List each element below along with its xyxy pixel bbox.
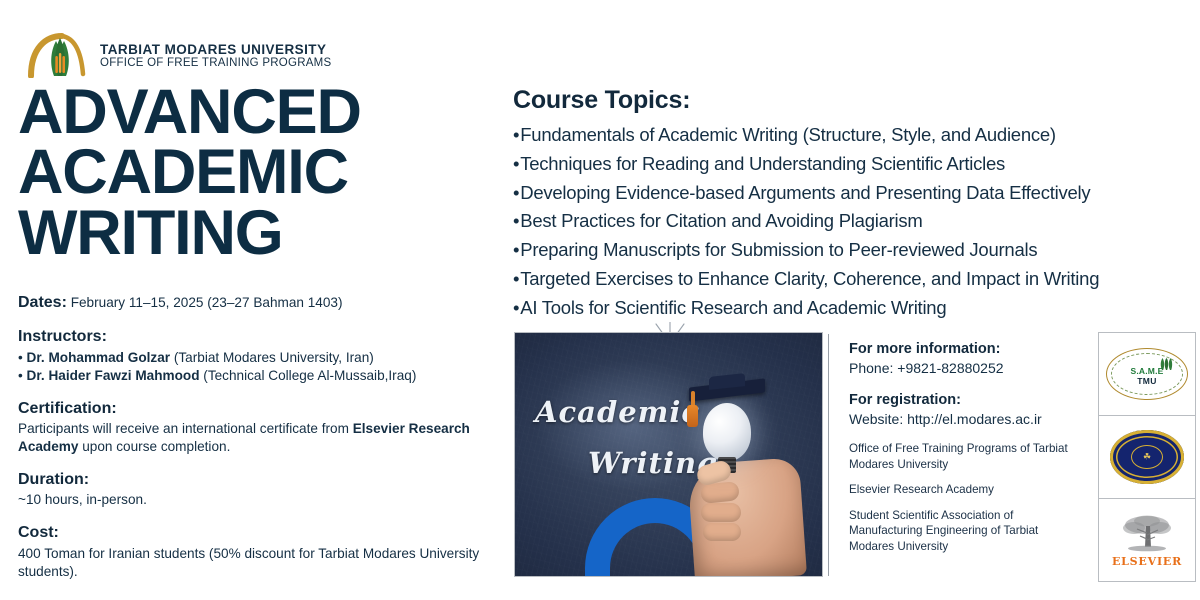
contact-info: For more information: Phone: +9821-82880… <box>849 340 1081 554</box>
instructor-affiliation: (Technical College Al-Mussaib,Iraq) <box>203 368 416 383</box>
tmu-tulip-logo-icon <box>28 32 90 78</box>
elsevier-wordmark: ELSEVIER <box>1112 555 1182 568</box>
cap-tassel <box>687 405 698 427</box>
organizer-elsevier: Elsevier Research Academy <box>849 482 1081 497</box>
title-line-3: WRITING <box>18 203 518 263</box>
brand-university-name: TARBIAT MODARES UNIVERSITY <box>100 42 331 57</box>
topic-text: AI Tools for Scientific Research and Aca… <box>520 297 946 318</box>
certification-text: Participants will receive an internation… <box>18 420 518 456</box>
topic-text: Fundamentals of Academic Writing (Struct… <box>520 124 1056 145</box>
page-title: ADVANCED ACADEMIC WRITING <box>18 82 518 263</box>
topic-text: Targeted Exercises to Enhance Clarity, C… <box>520 268 1099 289</box>
title-line-2: ACADEMIC <box>18 142 518 202</box>
topic-item: •Developing Evidence-based Arguments and… <box>513 179 1200 208</box>
poster-root: TARBIAT MODARES UNIVERSITY OFFICE OF FRE… <box>0 0 1200 600</box>
topic-item: •Targeted Exercises to Enhance Clarity, … <box>513 265 1200 294</box>
topic-text: Best Practices for Citation and Avoiding… <box>520 210 922 231</box>
cost-block: Cost: 400 Toman for Iranian students (50… <box>18 522 518 580</box>
organizer-student-association: Student Scientific Association of Manufa… <box>849 508 1081 554</box>
finger <box>701 503 741 522</box>
same-oval-frame: S.A.M.E TMU <box>1106 348 1188 400</box>
topic-item: •Techniques for Reading and Understandin… <box>513 150 1200 179</box>
same-tmu-logo-icon: S.A.M.E TMU <box>1098 332 1196 416</box>
topic-bullet: • <box>513 239 519 260</box>
brand-header: TARBIAT MODARES UNIVERSITY OFFICE OF FRE… <box>28 32 331 78</box>
same-label-line2: TMU <box>1107 376 1187 386</box>
elsevier-lockup: ELSEVIER <box>1112 513 1182 568</box>
duration-label: Duration: <box>18 469 518 490</box>
topic-bullet: • <box>513 182 519 203</box>
instructor-item: • Dr. Mohammad Golzar (Tarbiat Modares U… <box>18 349 518 367</box>
dates-label: Dates: <box>18 294 67 311</box>
instructors-label: Instructors: <box>18 326 518 347</box>
topic-item: •Fundamentals of Academic Writing (Struc… <box>513 121 1200 150</box>
topic-bullet: • <box>513 153 519 174</box>
elsevier-tree-icon <box>1120 513 1174 553</box>
topic-item: •Preparing Manuscripts for Submission to… <box>513 236 1200 265</box>
topic-item: •Best Practices for Citation and Avoidin… <box>513 207 1200 236</box>
topic-text: Preparing Manuscripts for Submission to … <box>520 239 1037 260</box>
dates-line: Dates: February 11–15, 2025 (23–27 Bahma… <box>18 292 518 313</box>
certification-label: Certification: <box>18 398 518 419</box>
elsevier-logo-icon: ELSEVIER <box>1098 499 1196 582</box>
phone-line: Phone: +9821-82880252 <box>849 359 1081 378</box>
seal-center-emblem: ☘ <box>1143 452 1151 463</box>
instructor-item: • Dr. Haider Fawzi Mahmood (Technical Co… <box>18 367 518 385</box>
photo-word-academic: Academic <box>535 395 700 429</box>
title-line-1: ADVANCED <box>18 82 518 142</box>
vertical-divider <box>828 334 829 576</box>
course-details: Dates: February 11–15, 2025 (23–27 Bahma… <box>18 292 518 581</box>
instructors-block: Instructors: • Dr. Mohammad Golzar (Tarb… <box>18 326 518 384</box>
topic-bullet: • <box>513 210 519 231</box>
more-information-heading: For more information: <box>849 340 1081 359</box>
finger <box>703 523 741 541</box>
partner-logos: S.A.M.E TMU ☘ <box>1098 332 1194 582</box>
same-label-line1: S.A.M.E <box>1107 366 1187 376</box>
certification-text-post: upon course completion. <box>78 439 230 454</box>
dates-block: Dates: February 11–15, 2025 (23–27 Bahma… <box>18 292 518 313</box>
duration-value: ~10 hours, in-person. <box>18 491 518 509</box>
duration-block: Duration: ~10 hours, in-person. <box>18 469 518 509</box>
course-photo: Academic Writing <box>515 333 822 576</box>
brand-text: TARBIAT MODARES UNIVERSITY OFFICE OF FRE… <box>100 40 331 70</box>
topic-item: •AI Tools for Scientific Research and Ac… <box>513 294 1200 323</box>
topic-text: Developing Evidence-based Arguments and … <box>520 182 1090 203</box>
instructor-affiliation: (Tarbiat Modares University, Iran) <box>174 350 374 365</box>
website-line[interactable]: Website: http://el.modares.ac.ir <box>849 410 1081 429</box>
registration-heading: For registration: <box>849 391 1081 410</box>
topic-bullet: • <box>513 268 519 289</box>
course-topics-heading: Course Topics: <box>513 86 1200 115</box>
cost-label: Cost: <box>18 522 518 543</box>
dates-value: February 11–15, 2025 (23–27 Bahman 1403) <box>71 295 343 310</box>
certification-block: Certification: Participants will receive… <box>18 398 518 456</box>
lightbulb-icon <box>703 403 751 461</box>
tarbiat-modares-seal-icon: ☘ <box>1098 416 1196 499</box>
instructor-name: Dr. Haider Fawzi Mahmood <box>27 368 200 383</box>
instructor-name: Dr. Mohammad Golzar <box>27 350 171 365</box>
instructor-bullet: • <box>18 368 23 383</box>
seal-ring: ☘ <box>1110 430 1184 484</box>
brand-office-name: OFFICE OF FREE TRAINING PROGRAMS <box>100 57 331 70</box>
certification-text-pre: Participants will receive an internation… <box>18 421 353 436</box>
organizer-office: Office of Free Training Programs of Tarb… <box>849 441 1081 472</box>
topic-bullet: • <box>513 124 519 145</box>
topic-text: Techniques for Reading and Understanding… <box>520 153 1005 174</box>
topic-bullet: • <box>513 297 519 318</box>
instructor-bullet: • <box>18 350 23 365</box>
course-topics: Course Topics: •Fundamentals of Academic… <box>513 86 1200 322</box>
cost-value: 400 Toman for Iranian students (50% disc… <box>18 545 518 581</box>
